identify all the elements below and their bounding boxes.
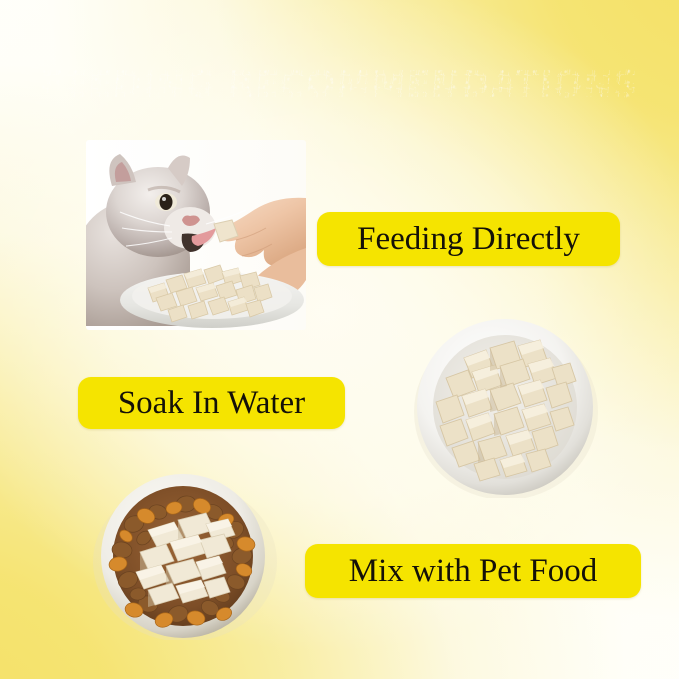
page-title: FEEDING RECOMMENDATIONS xyxy=(39,66,641,103)
label-feeding-directly: Feeding Directly xyxy=(317,212,620,266)
bowl-of-cubes-illustration xyxy=(402,312,608,498)
cat-feeding-illustration xyxy=(86,140,306,330)
label-soak-in-water: Soak In Water xyxy=(78,377,345,429)
label-mix-with-pet-food: Mix with Pet Food xyxy=(305,544,641,598)
bowl-of-kibble-with-chunks-photo xyxy=(86,472,284,640)
cat-feeding-photo xyxy=(86,140,306,330)
page-title-container: FEEDING RECOMMENDATIONS xyxy=(0,66,679,103)
bowl-of-freeze-dried-cubes-photo xyxy=(402,312,608,498)
cat-eye-glint xyxy=(162,197,166,201)
feeding-recommendations-poster: FEEDING RECOMMENDATIONS FEEDING RECOMMEN… xyxy=(0,0,679,679)
bowl-of-mixed-food-illustration xyxy=(86,472,284,640)
cat-eye-pupil xyxy=(160,194,173,210)
